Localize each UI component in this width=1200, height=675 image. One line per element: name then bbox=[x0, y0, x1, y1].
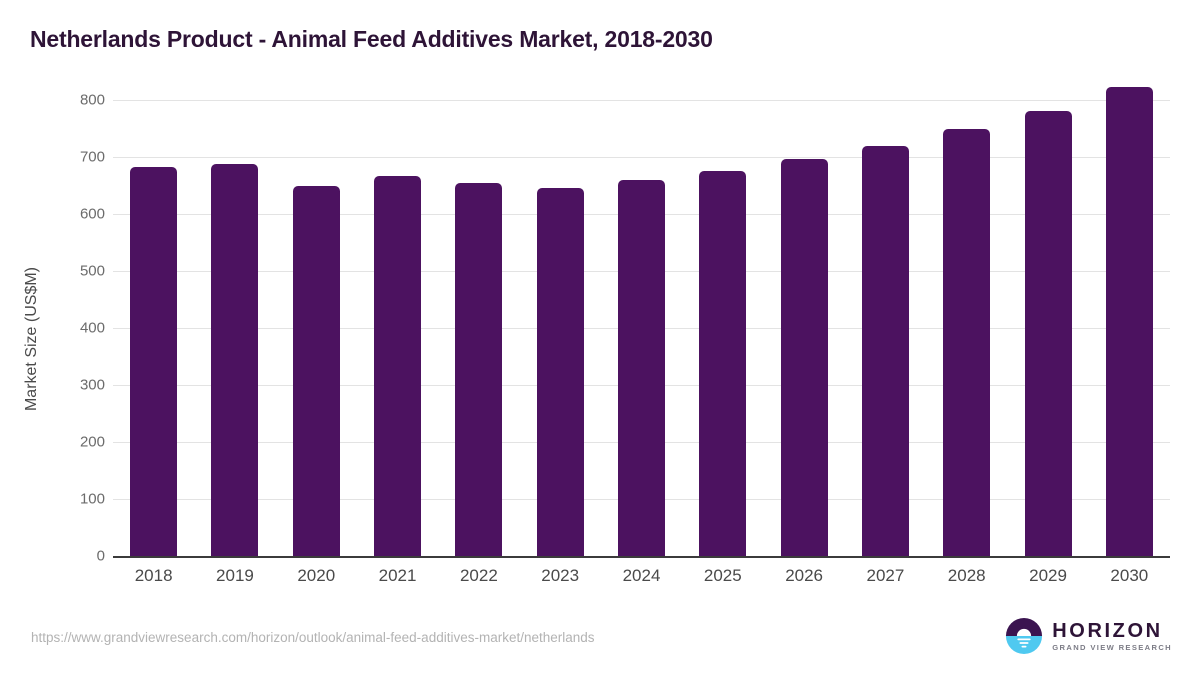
bar-2020[interactable] bbox=[293, 186, 340, 557]
y-axis-tick-label: 200 bbox=[35, 434, 105, 451]
x-axis-tick-label-2021: 2021 bbox=[379, 566, 417, 586]
x-axis-tick-label-2020: 2020 bbox=[297, 566, 335, 586]
y-axis-tick-label: 400 bbox=[35, 320, 105, 337]
x-axis-tick-label-2030: 2030 bbox=[1110, 566, 1148, 586]
y-axis-tick-label: 100 bbox=[35, 491, 105, 508]
bar-2029[interactable] bbox=[1025, 111, 1072, 556]
bar-2030[interactable] bbox=[1106, 87, 1153, 556]
x-axis-tick-label-2022: 2022 bbox=[460, 566, 498, 586]
x-axis-tick-label-2024: 2024 bbox=[623, 566, 661, 586]
x-axis-tick-label-2019: 2019 bbox=[216, 566, 254, 586]
bar-2019[interactable] bbox=[211, 164, 258, 556]
bar-2018[interactable] bbox=[130, 167, 177, 556]
y-axis-tick-label: 500 bbox=[35, 263, 105, 280]
horizon-logo-mark bbox=[1005, 617, 1043, 655]
y-axis-tick-label: 800 bbox=[35, 92, 105, 109]
y-axis-tick-label: 600 bbox=[35, 206, 105, 223]
y-axis-tick-label: 0 bbox=[35, 548, 105, 565]
bar-2023[interactable] bbox=[537, 188, 584, 556]
bar-2022[interactable] bbox=[455, 183, 502, 556]
x-axis-tick-label-2029: 2029 bbox=[1029, 566, 1067, 586]
bars-layer bbox=[113, 100, 1170, 556]
x-axis-line bbox=[113, 556, 1170, 558]
chart-title: Netherlands Product - Animal Feed Additi… bbox=[30, 26, 713, 53]
horizon-logo-text: HORIZON GRAND VIEW RESEARCH bbox=[1052, 621, 1172, 652]
bar-2025[interactable] bbox=[699, 171, 746, 556]
horizon-logo: HORIZON GRAND VIEW RESEARCH bbox=[1005, 617, 1172, 655]
x-axis-tick-label-2023: 2023 bbox=[541, 566, 579, 586]
x-axis-tick-label-2028: 2028 bbox=[948, 566, 986, 586]
source-url[interactable]: https://www.grandviewresearch.com/horizo… bbox=[31, 630, 595, 645]
bar-2021[interactable] bbox=[374, 176, 421, 556]
x-axis-tick-label-2026: 2026 bbox=[785, 566, 823, 586]
bar-2026[interactable] bbox=[781, 159, 828, 556]
x-axis-tick-label-2027: 2027 bbox=[867, 566, 905, 586]
chart-canvas: Netherlands Product - Animal Feed Additi… bbox=[0, 0, 1200, 675]
y-axis-tick-label: 300 bbox=[35, 377, 105, 394]
horizon-tagline: GRAND VIEW RESEARCH bbox=[1052, 644, 1172, 652]
y-axis-title: Market Size (US$M) bbox=[23, 189, 41, 489]
bar-2027[interactable] bbox=[862, 146, 909, 556]
bar-2028[interactable] bbox=[943, 129, 990, 557]
y-axis-tick-label: 700 bbox=[35, 149, 105, 166]
horizon-wordmark: HORIZON bbox=[1052, 621, 1172, 641]
x-axis-ticks: 2018201920202021202220232024202520262027… bbox=[113, 566, 1170, 596]
x-axis-tick-label-2018: 2018 bbox=[135, 566, 173, 586]
x-axis-tick-label-2025: 2025 bbox=[704, 566, 742, 586]
bar-2024[interactable] bbox=[618, 180, 665, 556]
